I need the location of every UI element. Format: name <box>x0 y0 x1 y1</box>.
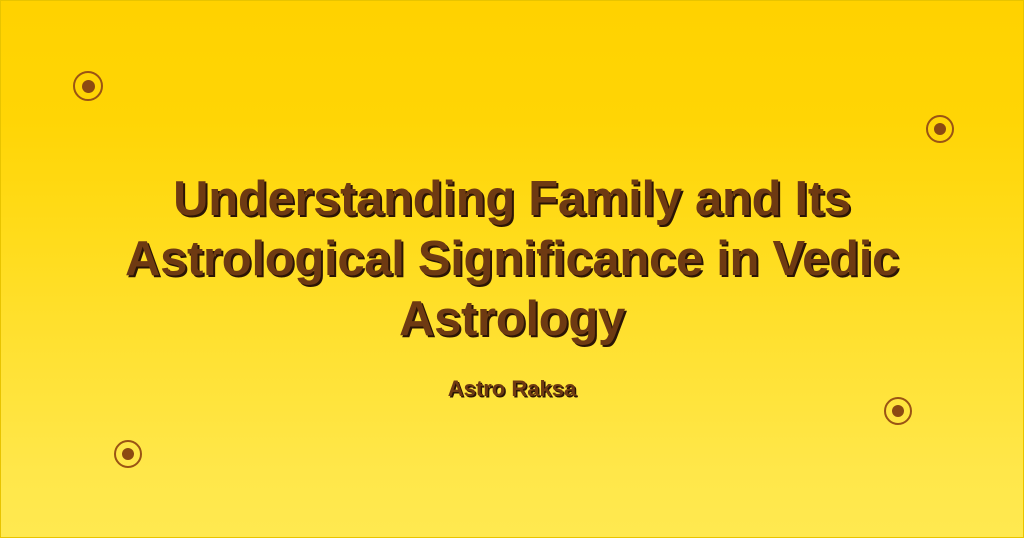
ring-dot-center <box>122 448 134 460</box>
ring-dot-center <box>82 80 95 93</box>
ring-dot-icon-bottom-left <box>114 440 142 468</box>
slide-title: Understanding Family and Its Astrologica… <box>1 169 1023 349</box>
presentation-slide: Understanding Family and Its Astrologica… <box>0 0 1024 538</box>
ring-dot-center <box>934 123 946 135</box>
slide-subtitle: Astro Raksa <box>1 375 1023 403</box>
ring-dot-icon-top-left <box>73 71 103 101</box>
slide-text-block: Understanding Family and Its Astrologica… <box>1 169 1023 403</box>
ring-dot-icon-top-right <box>926 115 954 143</box>
ring-dot-center <box>892 405 904 417</box>
